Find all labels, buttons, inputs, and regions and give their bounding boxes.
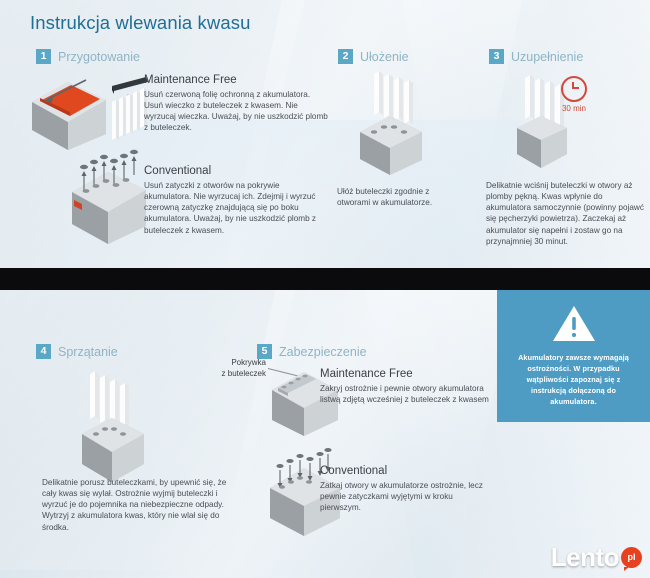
- top-panel: Instrukcja wlewania kwasu 1 Przygotowani…: [0, 0, 650, 268]
- step-label-4: Sprzątanie: [58, 345, 118, 359]
- panel-divider: [0, 268, 650, 290]
- watermark-suffix-bubble: pl: [621, 547, 642, 568]
- step-1-block-maintenance-free: Maintenance Free Usuń czerwoną folię och…: [144, 74, 329, 134]
- step-badge-5: 5: [257, 344, 272, 359]
- block-text: Usuń czerwoną folię ochronną z akumulato…: [144, 89, 329, 134]
- battery-foil-illustration: [24, 72, 149, 150]
- step-header-4: 4 Sprzątanie: [36, 344, 118, 359]
- step-header-3: 3 Uzupełnienie: [489, 49, 583, 64]
- step-1-block-conventional: Conventional Usuń zatyczki z otworów na …: [144, 165, 329, 236]
- page-title: Instrukcja wlewania kwasu: [30, 12, 250, 34]
- watermark-lento: Lento pl: [551, 544, 642, 570]
- timer-label: 30 min: [561, 104, 587, 113]
- block-text: Usuń zatyczki z otworów na pokrywie akum…: [144, 180, 329, 236]
- step-5-block-maintenance-free: Maintenance Free Zakryj ostrożnie i pewn…: [320, 368, 495, 405]
- bg-sheet-6: [205, 290, 534, 578]
- timer-indicator: 30 min: [561, 76, 587, 113]
- step-label-1: Przygotowanie: [58, 50, 140, 64]
- block-heading: Maintenance Free: [320, 368, 495, 380]
- infographic-root: Instrukcja wlewania kwasu 1 Przygotowani…: [0, 0, 650, 578]
- step-header-2: 2 Ułożenie: [338, 49, 409, 64]
- clock-icon: [561, 76, 587, 102]
- watermark-name: Lento: [551, 544, 619, 570]
- warning-box: Akumulatory zawsze wymagają ostrożności.…: [497, 290, 650, 422]
- block-text: Zakryj ostrożnie i pewnie otwory akumula…: [320, 383, 495, 405]
- step-badge-2: 2: [338, 49, 353, 64]
- block-heading: Conventional: [144, 165, 329, 177]
- callout-label-cover: Pokrywka z buteleczek: [198, 358, 266, 380]
- step-label-2: Ułożenie: [360, 50, 409, 64]
- step-badge-1: 1: [36, 49, 51, 64]
- step-header-5: 5 Zabezpieczenie: [257, 344, 367, 359]
- block-text: Zatkaj otwory w akumulatorze ostrożnie, …: [320, 480, 495, 513]
- step-2-block: Ułóż buteleczki zgodnie z otworami w aku…: [337, 186, 447, 208]
- block-heading: Maintenance Free: [144, 74, 329, 86]
- battery-cleanup-illustration: [72, 368, 162, 488]
- warning-text: Akumulatory zawsze wymagają ostrożności.…: [497, 352, 650, 407]
- battery-bottles-aligned-illustration: [352, 70, 438, 175]
- block-text: Delikatnie porusz buteleczkami, by upewn…: [42, 477, 234, 533]
- step-badge-4: 4: [36, 344, 51, 359]
- step-label-3: Uzupełnienie: [511, 50, 583, 64]
- step-badge-3: 3: [489, 49, 504, 64]
- step-5-block-conventional: Conventional Zatkaj otwory w akumulatorz…: [320, 465, 495, 513]
- bottom-panel: 4 Sprzątanie: [0, 290, 650, 578]
- warning-triangle-icon: [552, 305, 596, 343]
- block-text: Ułóż buteleczki zgodnie z otworami w aku…: [337, 186, 447, 208]
- step-3-block: Delikatnie wciśnij buteleczki w otwory a…: [486, 180, 648, 247]
- step-label-5: Zabezpieczenie: [279, 345, 367, 359]
- block-text: Delikatnie wciśnij buteleczki w otwory a…: [486, 180, 648, 247]
- step-4-block: Delikatnie porusz buteleczkami, by upewn…: [42, 477, 234, 533]
- step-header-1: 1 Przygotowanie: [36, 49, 140, 64]
- block-heading: Conventional: [320, 465, 495, 477]
